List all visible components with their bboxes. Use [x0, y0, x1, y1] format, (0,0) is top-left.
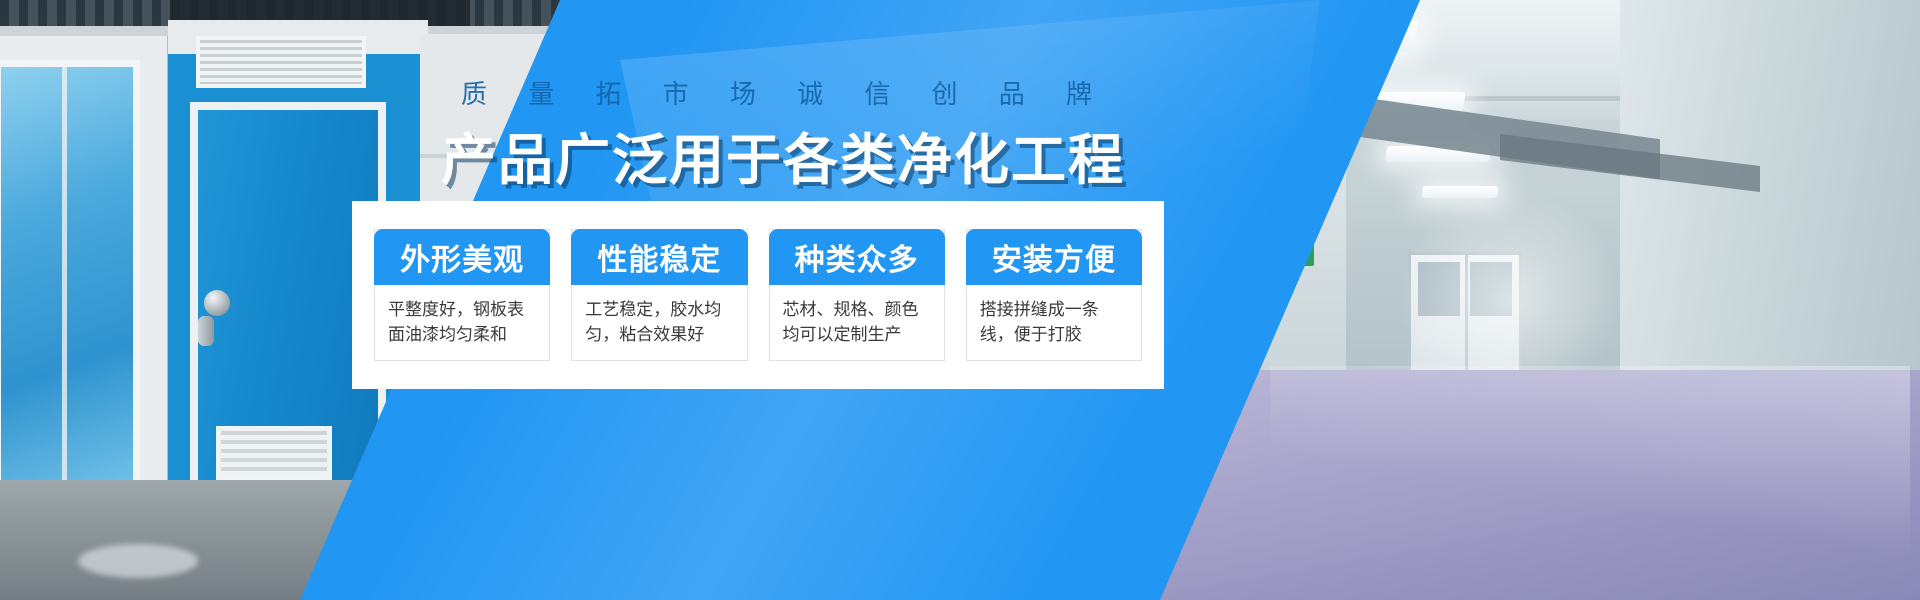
feature-panel: 外形美观 平整度好，钢板表面油漆均匀柔和 性能稳定 工艺稳定，胶水均匀，粘合效果… [352, 201, 1164, 389]
feature-card-header: 种类众多 [769, 229, 945, 285]
feature-card-text: 搭接拼缝成一条线，便于打胶 [967, 285, 1141, 360]
banner-subtitle: 质 量 拓 市 场 诚 信 创 品 牌 [0, 74, 1570, 111]
door-handle-icon [198, 316, 214, 346]
cleanroom-floor [1150, 370, 1920, 600]
feature-card-text: 平整度好，钢板表面油漆均匀柔和 [375, 285, 549, 360]
feature-card[interactable]: 安装方便 搭接拼缝成一条线，便于打胶 [966, 229, 1142, 361]
feature-card-title: 种类众多 [795, 235, 919, 279]
feature-card-header: 安装方便 [966, 229, 1142, 285]
feature-card-text: 芯材、规格、颜色均可以定制生产 [770, 285, 944, 360]
banner-headline: 产品广泛用于各类净化工程 [0, 115, 1566, 195]
feature-card[interactable]: 种类众多 芯材、规格、颜色均可以定制生产 [769, 229, 945, 361]
feature-card-text: 工艺稳定，胶水均匀，粘合效果好 [572, 285, 746, 360]
feature-card[interactable]: 外形美观 平整度好，钢板表面油漆均匀柔和 [374, 229, 550, 361]
feature-card-header: 性能稳定 [571, 229, 747, 285]
floor-reflection [78, 544, 198, 578]
cabin-louver-vent-bottom [216, 426, 332, 480]
feature-card-title: 安装方便 [992, 235, 1116, 279]
feature-card[interactable]: 性能稳定 工艺稳定，胶水均匀，粘合效果好 [571, 229, 747, 361]
feature-card-header: 外形美观 [374, 229, 550, 285]
feature-card-list: 外形美观 平整度好，钢板表面油漆均匀柔和 性能稳定 工艺稳定，胶水均匀，粘合效果… [352, 201, 1164, 389]
feature-card-title: 外形美观 [400, 235, 524, 279]
promo-banner: 质 量 拓 市 场 诚 信 创 品 牌 产品广泛用于各类净化工程 外形美观 平整… [0, 0, 1920, 600]
feature-card-title: 性能稳定 [597, 235, 721, 279]
door-lock-icon [204, 290, 230, 316]
